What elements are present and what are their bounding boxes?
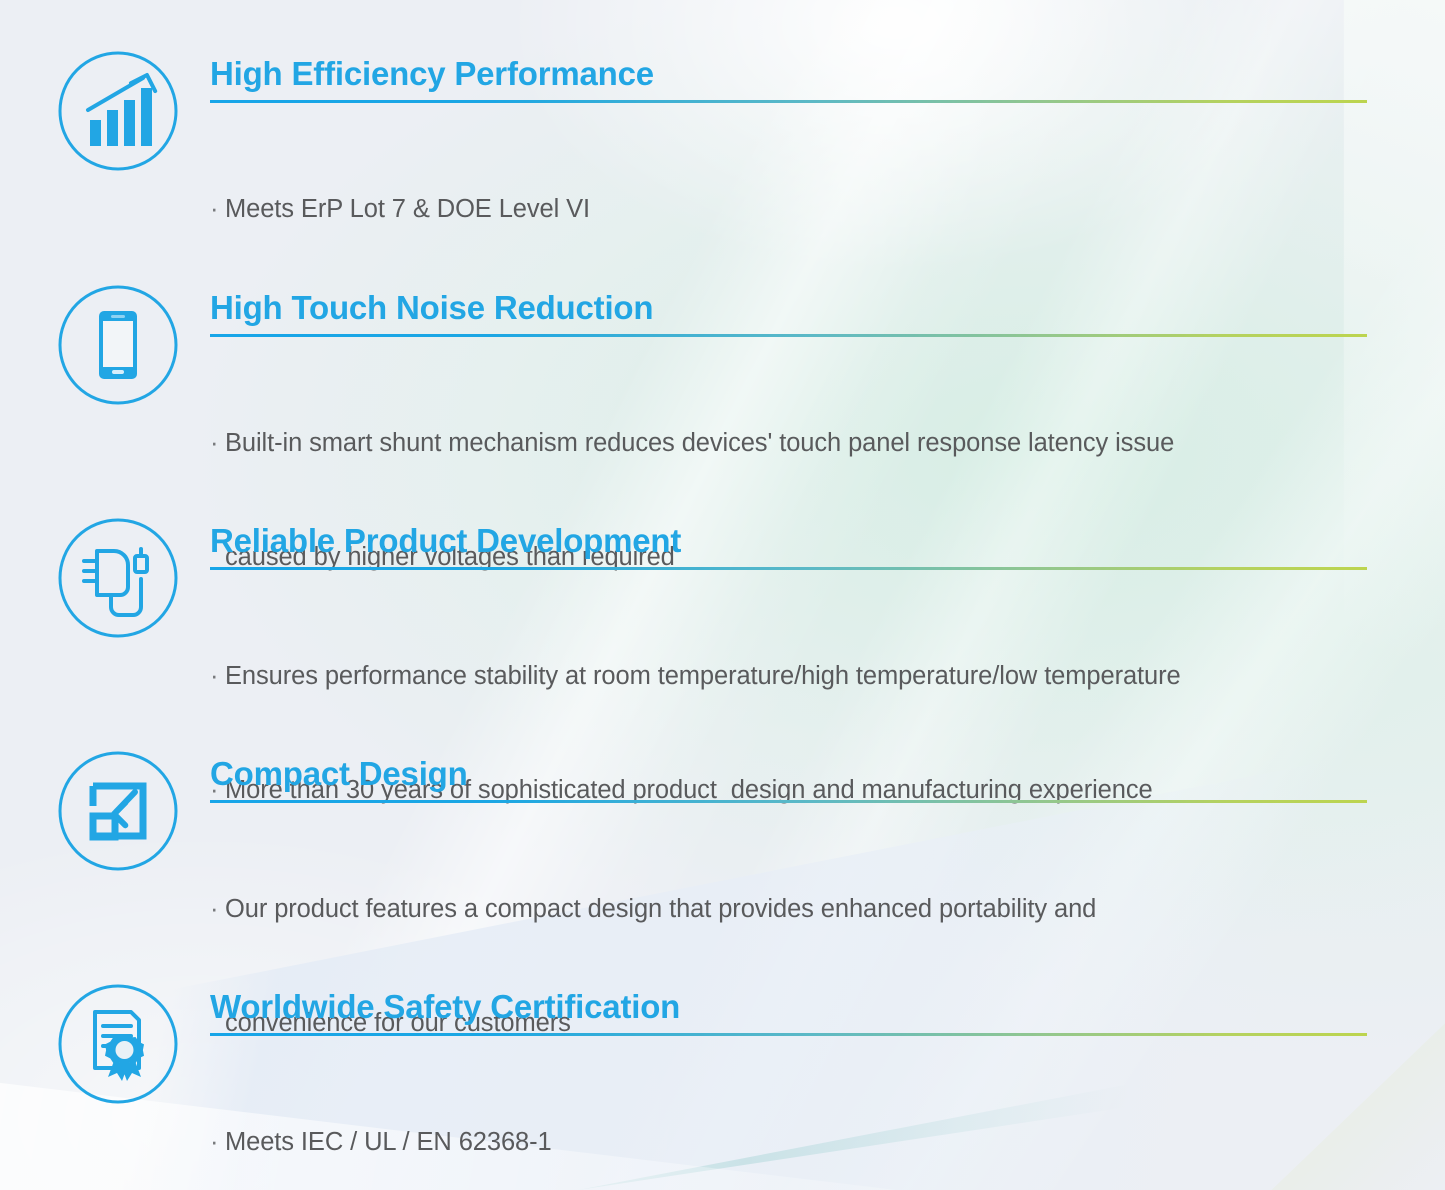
bullet-marker: · bbox=[210, 890, 225, 928]
bar-chart-growth-icon bbox=[55, 48, 181, 174]
bullet-marker: · bbox=[210, 1123, 225, 1161]
bullet-text: Our product features a compact design th… bbox=[225, 895, 1096, 923]
bullet-text: Meets IEC / UL / EN 62368-1 bbox=[225, 1128, 552, 1156]
feature-divider bbox=[210, 567, 1367, 570]
bullet-marker: · bbox=[210, 190, 225, 228]
bullet-marker: · bbox=[210, 424, 225, 462]
compact-resize-icon bbox=[55, 748, 181, 874]
power-adapter-icon bbox=[55, 515, 181, 641]
feature-divider bbox=[210, 800, 1367, 803]
bullet-line: ·Ensures performance stability at room t… bbox=[210, 657, 1367, 695]
feature-title: High Touch Noise Reduction bbox=[210, 288, 1367, 328]
feature-divider bbox=[210, 334, 1367, 337]
feature-title: Reliable Product Development bbox=[210, 521, 1367, 561]
bullet-text: Meets ErP Lot 7 & DOE Level VI bbox=[225, 195, 590, 223]
feature-list: High Efficiency Performance ·Meets ErP L… bbox=[0, 0, 1445, 1190]
bullet-text: Ensures performance stability at room te… bbox=[225, 662, 1181, 690]
feature-bullets: ·Meets ErP Lot 7 & DOE Level VI bbox=[210, 114, 1367, 304]
bullet-line: ·Our product features a compact design t… bbox=[210, 890, 1367, 928]
smartphone-icon bbox=[55, 282, 181, 408]
bullet-line: ·Meets IEC / UL / EN 62368-1 bbox=[210, 1123, 1367, 1161]
feature-bullets: ·Meets IEC / UL / EN 62368-1 bbox=[210, 1047, 1367, 1190]
bullet-text: Built-in smart shunt mechanism reduces d… bbox=[225, 429, 1174, 457]
feature-title: Worldwide Safety Certification bbox=[210, 987, 1367, 1027]
feature-divider bbox=[210, 1033, 1367, 1036]
bullet-line: ·Built-in smart shunt mechanism reduces … bbox=[210, 424, 1367, 462]
bullet-marker: · bbox=[210, 657, 225, 695]
feature-body: High Efficiency Performance ·Meets ErP L… bbox=[210, 54, 1367, 304]
feature-title: Compact Design bbox=[210, 754, 1367, 794]
feature-body: Worldwide Safety Certification ·Meets IE… bbox=[210, 987, 1367, 1190]
feature-highlights-page: High Efficiency Performance ·Meets ErP L… bbox=[0, 0, 1445, 1190]
feature-title: High Efficiency Performance bbox=[210, 54, 1367, 94]
feature-divider bbox=[210, 100, 1367, 103]
certificate-award-icon bbox=[55, 981, 181, 1107]
bullet-line: ·Meets ErP Lot 7 & DOE Level VI bbox=[210, 190, 1367, 228]
